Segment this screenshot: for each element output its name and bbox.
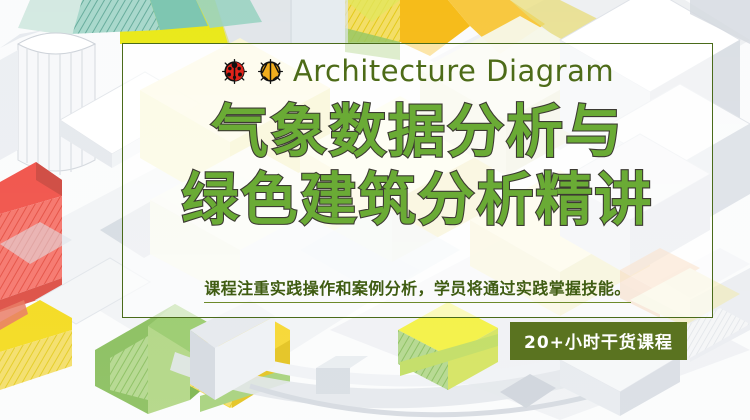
- subtitle-text: 课程注重实践操作和案例分析，学员将通过实践掌握技能。: [204, 275, 630, 303]
- eyebrow-row: Architecture Diagram: [123, 54, 712, 88]
- poster-canvas: Architecture Diagram 气象数据分析与 绿色建筑分析精讲 课程…: [0, 0, 750, 420]
- headline: 气象数据分析与 绿色建筑分析精讲: [123, 98, 712, 234]
- subtitle: 课程注重实践操作和案例分析，学员将通过实践掌握技能。: [123, 275, 712, 303]
- eyebrow-title: Architecture Diagram: [293, 54, 614, 88]
- headline-line-1: 气象数据分析与: [123, 98, 712, 166]
- headline-line-2: 绿色建筑分析精讲: [123, 166, 712, 234]
- hours-badge-text: 20+小时干货课程: [524, 333, 673, 353]
- content-frame: Architecture Diagram 气象数据分析与 绿色建筑分析精讲 课程…: [122, 43, 713, 318]
- beetle-yellow-icon: [257, 58, 284, 85]
- hours-badge: 20+小时干货课程: [510, 322, 687, 360]
- ladybug-red-icon: [221, 58, 248, 85]
